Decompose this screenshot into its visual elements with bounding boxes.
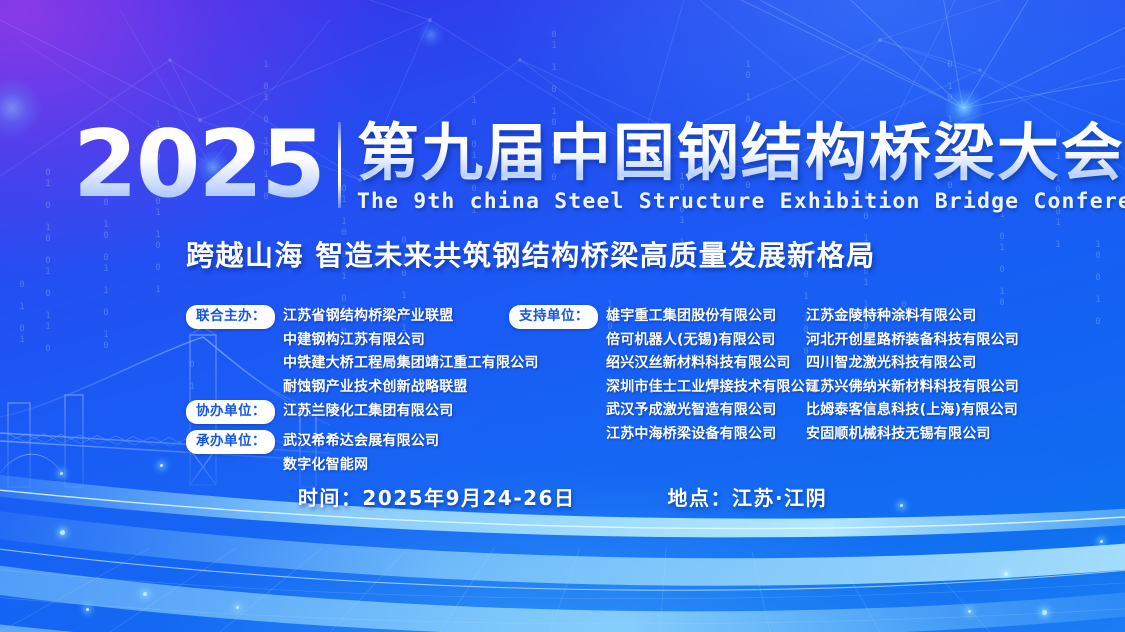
event-date: 时间：2025年9月24-26日 [298, 484, 576, 512]
org-group-undertaker: 承办单位： 武汉希希达会展有限公司 数字化智能网 [186, 430, 439, 477]
event-footer: 时间：2025年9月24-26日 地点：江苏·江阴 [0, 484, 1125, 512]
list-item: 倍可机器人(无锡)有限公司 [606, 329, 819, 353]
list-joint-host: 江苏省钢结构桥梁产业联盟 中建钢构江苏有限公司 中铁建大桥工程局集团靖江重工有限… [283, 305, 539, 399]
list-item: 中建钢构江苏有限公司 [283, 329, 539, 353]
list-item: 江苏省钢结构桥梁产业联盟 [283, 305, 539, 329]
list-supporters-col2: 江苏金陵特种涂料有限公司 河北开创星路桥装备科技有限公司 四川智龙激光科技有限公… [806, 305, 1019, 446]
list-item: 江苏兰陵化工集团有限公司 [283, 400, 453, 424]
list-item: 安固顺机械科技无锡有限公司 [806, 423, 1019, 447]
event-location: 地点：江苏·江阴 [667, 484, 827, 512]
list-item: 比姆泰客信息科技(上海)有限公司 [806, 399, 1019, 423]
list-item: 深圳市佳士工业焊接技术有限公司 [606, 376, 819, 400]
list-item: 四川智龙激光科技有限公司 [806, 352, 1019, 376]
list-item: 江苏中海桥梁设备有限公司 [606, 423, 819, 447]
list-co-organizer: 江苏兰陵化工集团有限公司 [283, 400, 453, 424]
label-co-organizer: 协办单位： [186, 400, 275, 424]
org-group-joint-host: 联合主办： 江苏省钢结构桥梁产业联盟 中建钢构江苏有限公司 中铁建大桥工程局集团… [186, 305, 539, 399]
label-undertaker: 承办单位： [186, 430, 275, 454]
list-item: 耐蚀钢产业技术创新战略联盟 [283, 376, 539, 400]
label-supporters: 支持单位： [509, 305, 598, 329]
org-group-supporters: 支持单位： 雄宇重工集团股份有限公司 倍可机器人(无锡)有限公司 绍兴汉丝新材料… [509, 305, 819, 446]
title-divider [338, 122, 341, 208]
banner-content: 2025 第九届中国钢结构桥梁大会 The 9th china Steel St… [0, 0, 1125, 632]
org-group-co-organizer: 协办单位： 江苏兰陵化工集团有限公司 [186, 400, 453, 424]
list-item: 武汉希希达会展有限公司 [283, 430, 439, 454]
list-item: 雄宇重工集团股份有限公司 [606, 305, 819, 329]
list-item: 江苏金陵特种涂料有限公司 [806, 305, 1019, 329]
year-2025: 2025 [73, 118, 338, 210]
conference-banner: 01 0 10 01 0 11 0 0 10 01 1 0 10 10 0 1 … [0, 0, 1125, 632]
organizers-section: 联合主办： 江苏省钢结构桥梁产业联盟 中建钢构江苏有限公司 中铁建大桥工程局集团… [0, 301, 1125, 446]
conference-title-cn: 第九届中国钢结构桥梁大会 [357, 118, 1125, 188]
list-item: 数字化智能网 [283, 454, 439, 478]
title-row: 2025 第九届中国钢结构桥梁大会 The 9th china Steel St… [73, 118, 1125, 214]
label-joint-host: 联合主办： [186, 305, 275, 329]
conference-title-en: The 9th china Steel Structure Exhibition… [357, 190, 1125, 214]
title-block: 第九届中国钢结构桥梁大会 The 9th china Steel Structu… [357, 118, 1125, 214]
list-item: 绍兴汉丝新材料科技有限公司 [606, 352, 819, 376]
org-group-supporters-secondary: 江苏金陵特种涂料有限公司 河北开创星路桥装备科技有限公司 四川智龙激光科技有限公… [806, 305, 1019, 446]
list-undertaker: 武汉希希达会展有限公司 数字化智能网 [283, 430, 439, 477]
list-supporters-col1: 雄宇重工集团股份有限公司 倍可机器人(无锡)有限公司 绍兴汉丝新材料科技有限公司… [606, 305, 819, 446]
list-item: 中铁建大桥工程局集团靖江重工有限公司 [283, 352, 539, 376]
list-item: 江苏兴佛纳米新材料科技有限公司 [806, 376, 1019, 400]
conference-slogan: 跨越山海 智造未来共筑钢结构桥梁高质量发展新格局 [186, 238, 876, 274]
list-item: 河北开创星路桥装备科技有限公司 [806, 329, 1019, 353]
list-item: 武汉予成激光智造有限公司 [606, 399, 819, 423]
